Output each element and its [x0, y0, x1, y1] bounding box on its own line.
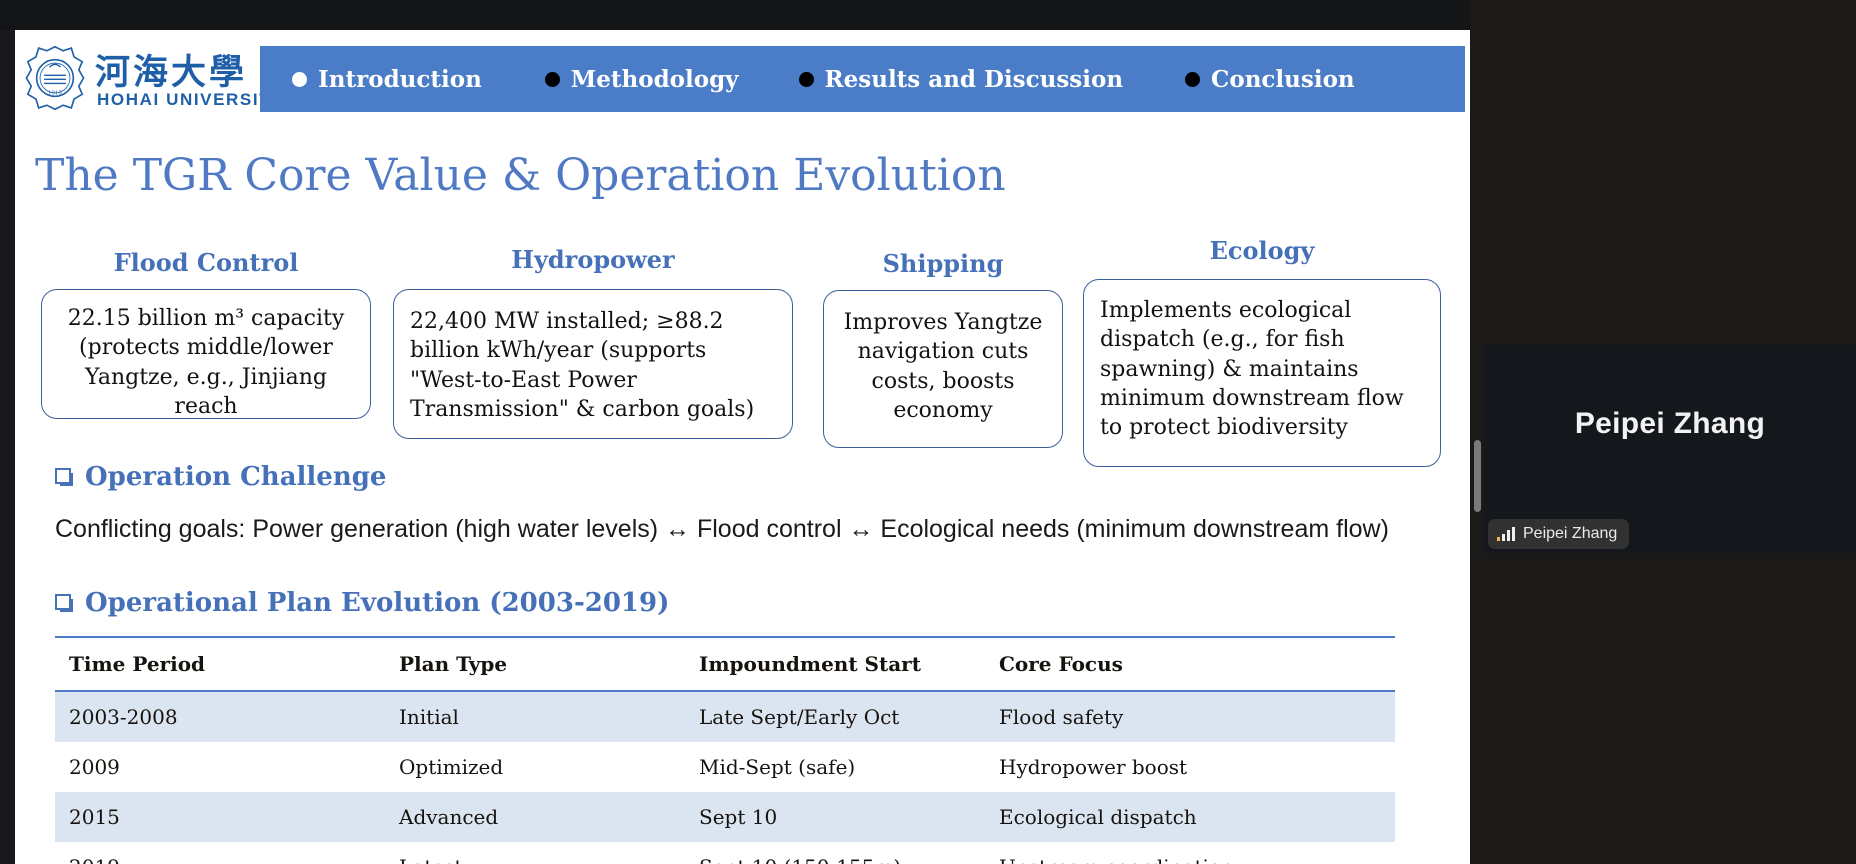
plan-evolution-heading-label: Operational Plan Evolution (2003-2019): [85, 588, 669, 618]
cell-core-focus: Ecological dispatch: [985, 792, 1395, 842]
cell-impoundment-start: Sept 10: [685, 792, 985, 842]
pillar-hydropower: Hydropower 22,400 MW installed; ≥88.2 bi…: [393, 245, 793, 439]
pillar-label: Hydropower: [393, 245, 793, 274]
pillar-body: Implements ecological dispatch (e.g., fo…: [1083, 279, 1441, 467]
cell-impoundment-start: Sept 10 (150-155m): [685, 842, 985, 864]
university-name-en: HOHAI UNIVERSITY: [97, 90, 284, 110]
panel-scrollbar-handle[interactable]: [1474, 440, 1481, 512]
cell-time-period: 2003-2008: [55, 691, 385, 742]
cell-time-period: 2019: [55, 842, 385, 864]
nav-item-introduction[interactable]: Introduction: [292, 46, 482, 112]
pillar-body: Improves Yangtze navigation cuts costs, …: [823, 290, 1063, 448]
operation-challenge-text: Conflicting goals: Power generation (hig…: [55, 515, 1455, 544]
participants-panel: Peipei Zhang Peipei Zhang: [1470, 0, 1856, 864]
table-head: Time Period Plan Type Impoundment Start …: [55, 637, 1395, 691]
cell-plan-type: Latest: [385, 842, 685, 864]
pillar-flood-control: Flood Control 22.15 billion m³ capacity …: [41, 248, 371, 419]
pillar-ecology: Ecology Implements ecological dispatch (…: [1083, 236, 1441, 467]
pillar-label: Ecology: [1083, 236, 1441, 265]
nav-item-label: Results and Discussion: [825, 66, 1124, 93]
cell-plan-type: Initial: [385, 691, 685, 742]
participant-video-tile[interactable]: Peipei Zhang Peipei Zhang: [1484, 345, 1856, 553]
column-header-core-focus: Core Focus: [985, 637, 1395, 691]
participant-name-chip: Peipei Zhang: [1488, 519, 1629, 549]
slide-header: 1915 河海大學 HOHAI UNIVERSITY Introduction …: [15, 38, 1470, 120]
filled-circle-icon: [545, 72, 560, 87]
hollow-square-bullet-icon: [55, 594, 71, 610]
slide-title: The TGR Core Value & Operation Evolution: [35, 150, 1135, 201]
participant-display-name: Peipei Zhang: [1484, 407, 1856, 441]
plan-evolution-table: Time Period Plan Type Impoundment Start …: [55, 636, 1395, 864]
cell-core-focus: Flood safety: [985, 691, 1395, 742]
nav-item-results-and-discussion[interactable]: Results and Discussion: [799, 46, 1124, 112]
signal-bars-icon: [1497, 527, 1515, 541]
stage-top-letterbox: [0, 0, 1470, 30]
nav-item-methodology[interactable]: Methodology: [545, 46, 739, 112]
filled-circle-icon: [292, 72, 307, 87]
cell-plan-type: Advanced: [385, 792, 685, 842]
slide-section-nav: Introduction Methodology Results and Dis…: [260, 46, 1465, 112]
table-row: 2015 Advanced Sept 10 Ecological dispatc…: [55, 792, 1395, 842]
university-name-cn: 河海大學: [95, 44, 247, 95]
nav-item-label: Methodology: [571, 66, 739, 93]
pillar-body: 22,400 MW installed; ≥88.2 billion kWh/y…: [393, 289, 793, 439]
core-value-pillars: Flood Control 22.15 billion m³ capacity …: [15, 248, 1470, 448]
column-header-impoundment-start: Impoundment Start: [685, 637, 985, 691]
cell-core-focus: Upstream coordination: [985, 842, 1395, 864]
cell-core-focus: Hydropower boost: [985, 742, 1395, 792]
presentation-slide: 1915 河海大學 HOHAI UNIVERSITY Introduction …: [15, 30, 1470, 864]
nav-item-label: Conclusion: [1211, 66, 1355, 93]
nav-item-conclusion[interactable]: Conclusion: [1185, 46, 1355, 112]
cell-impoundment-start: Mid-Sept (safe): [685, 742, 985, 792]
table-row: 2019 Latest Sept 10 (150-155m) Upstream …: [55, 842, 1395, 864]
nav-item-label: Introduction: [318, 66, 482, 93]
pillar-label: Shipping: [823, 249, 1063, 278]
cell-time-period: 2015: [55, 792, 385, 842]
filled-circle-icon: [1185, 72, 1200, 87]
table-body: 2003-2008 Initial Late Sept/Early Oct Fl…: [55, 691, 1395, 864]
pillar-body: 22.15 billion m³ capacity (protects midd…: [41, 289, 371, 419]
filled-circle-icon: [799, 72, 814, 87]
university-logo: 1915 河海大學 HOHAI UNIVERSITY: [21, 42, 256, 118]
operation-challenge-heading: Operation Challenge: [55, 462, 386, 492]
table-row: 2009 Optimized Mid-Sept (safe) Hydropowe…: [55, 742, 1395, 792]
column-header-time-period: Time Period: [55, 637, 385, 691]
operation-challenge-heading-label: Operation Challenge: [85, 462, 386, 492]
cell-plan-type: Optimized: [385, 742, 685, 792]
cell-time-period: 2009: [55, 742, 385, 792]
hohai-university-seal-icon: 1915: [21, 44, 89, 112]
pillar-label: Flood Control: [41, 248, 371, 277]
pillar-shipping: Shipping Improves Yangtze navigation cut…: [823, 249, 1063, 448]
meeting-window: 1915 河海大學 HOHAI UNIVERSITY Introduction …: [0, 0, 1856, 864]
column-header-plan-type: Plan Type: [385, 637, 685, 691]
plan-evolution-heading: Operational Plan Evolution (2003-2019): [55, 588, 669, 618]
hollow-square-bullet-icon: [55, 468, 71, 484]
cell-impoundment-start: Late Sept/Early Oct: [685, 691, 985, 742]
table-header-row: Time Period Plan Type Impoundment Start …: [55, 637, 1395, 691]
svg-text:1915: 1915: [48, 90, 62, 96]
screen-share-stage: 1915 河海大學 HOHAI UNIVERSITY Introduction …: [0, 0, 1470, 864]
participant-chip-name: Peipei Zhang: [1523, 525, 1617, 543]
table-row: 2003-2008 Initial Late Sept/Early Oct Fl…: [55, 691, 1395, 742]
